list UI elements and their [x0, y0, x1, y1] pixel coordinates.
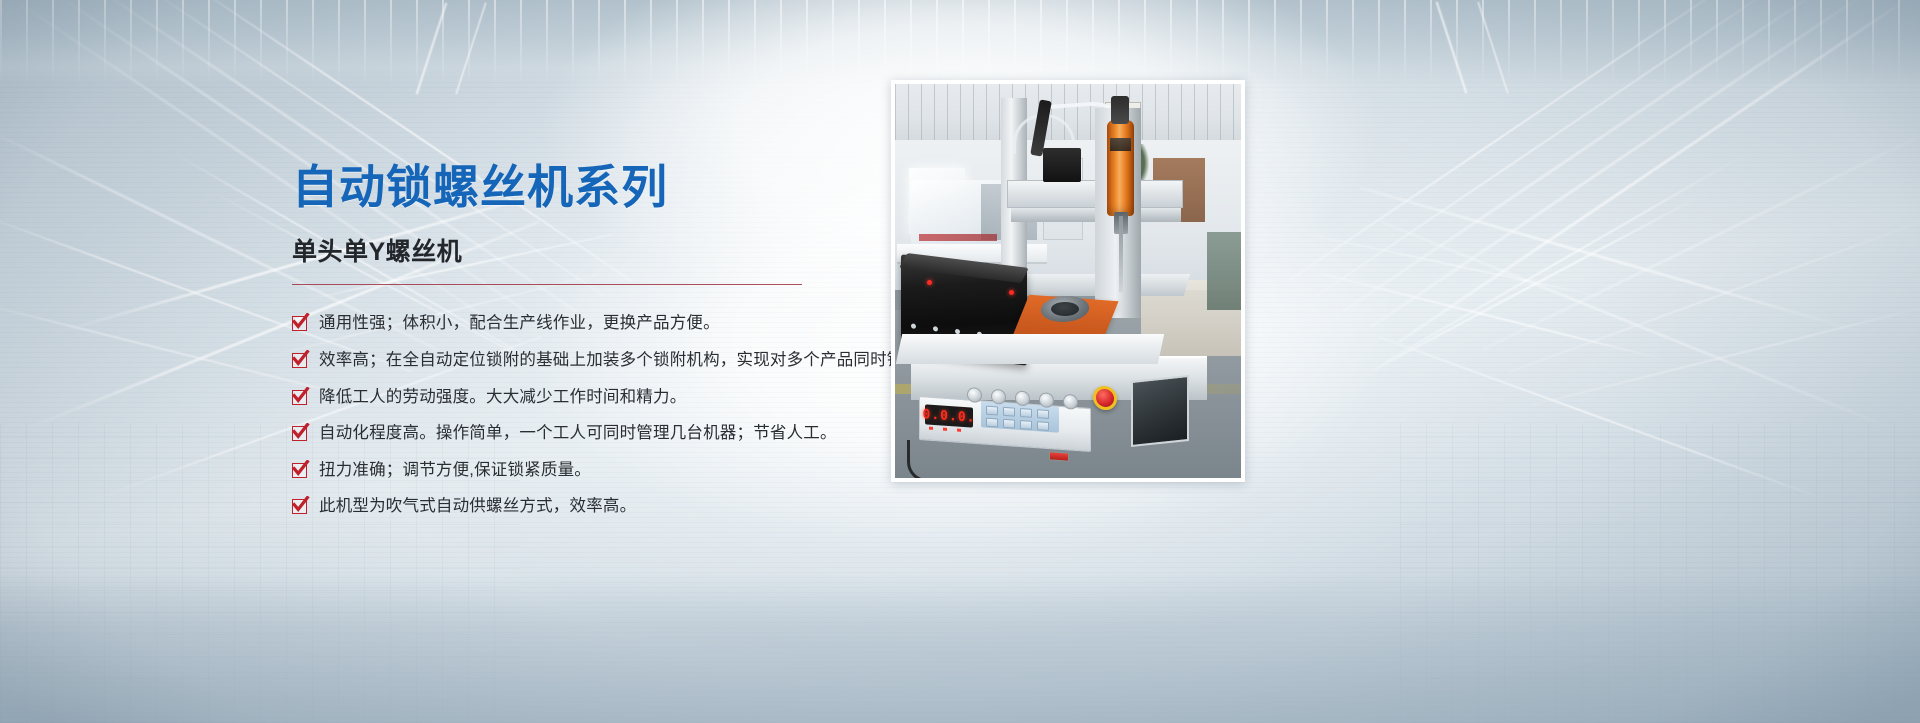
photo-ceiling-slat: [973, 84, 974, 146]
machine-panel-button-2[interactable]: [991, 389, 1006, 405]
check-icon: [292, 316, 307, 331]
machine-feeder-screw: [933, 326, 938, 332]
machine-panel-button-3[interactable]: [1015, 390, 1030, 406]
photo-ceiling-slat: [1142, 84, 1143, 146]
machine-keypad-key-6[interactable]: [1003, 419, 1015, 429]
machine-feeder-screw: [911, 323, 916, 329]
photo-ceiling-slat: [1233, 84, 1234, 146]
product-subtitle: 单头单Y螺丝机: [292, 232, 872, 268]
machine-keypad-key-5[interactable]: [986, 418, 998, 428]
check-icon: [292, 353, 307, 368]
feature-list: 通用性强；体积小，配合生产线作业，更换产品方便。效率高；在全自动定位锁附的基础上…: [292, 313, 872, 517]
machine-panel-button-4[interactable]: [1039, 392, 1054, 408]
machine-workpiece-center: [1051, 302, 1079, 316]
feature-item: 通用性强；体积小，配合生产线作业，更换产品方便。: [292, 313, 872, 334]
machine-electric-screwdriver: [1107, 120, 1134, 216]
feature-text: 此机型为吹气式自动供螺丝方式，效率高。: [319, 496, 636, 517]
feature-text: 扭力准确；调节方便,保证锁紧质量。: [319, 460, 591, 481]
product-photo-frame: 0.0.0.: [891, 80, 1245, 482]
feature-item: 降低工人的劳动强度。大大减少工作时间和精力。: [292, 387, 872, 408]
photo-ceiling-slat: [999, 84, 1000, 146]
machine-screw-bit: [1119, 216, 1123, 292]
feature-item: 此机型为吹气式自动供螺丝方式，效率高。: [292, 496, 872, 517]
photo-ceiling-slat: [934, 84, 935, 146]
page-title: 自动锁螺丝机系列: [292, 160, 872, 214]
machine-base-plate: [896, 334, 1164, 364]
photo-ceiling-slat: [1220, 84, 1221, 146]
banner-content: 自动锁螺丝机系列 单头单Y螺丝机 通用性强；体积小，配合生产线作业，更换产品方便…: [0, 0, 1920, 723]
machine-keypad-key-8[interactable]: [1037, 421, 1049, 431]
check-icon: [292, 426, 307, 441]
machine-cable: [907, 440, 947, 482]
machine-digital-display: 0.0.0.: [925, 404, 973, 427]
machine-screwdriver-label: [1110, 138, 1131, 151]
photo-ceiling-slat: [1207, 84, 1208, 146]
machine-display-led: [943, 428, 947, 431]
machine-display-led: [929, 427, 933, 430]
photo-ceiling-slat: [895, 84, 896, 146]
photo-ceiling-slat: [947, 84, 948, 146]
feature-item: 效率高；在全自动定位锁附的基础上加装多个锁附机构，实现对多个产品同时锁附。: [292, 350, 872, 371]
product-banner: 自动锁螺丝机系列 单头单Y螺丝机 通用性强；体积小，配合生产线作业，更换产品方便…: [0, 0, 1920, 723]
feature-item: 自动化程度高。操作简单，一个工人可同时管理几台机器；节省人工。: [292, 423, 872, 444]
feature-text: 自动化程度高。操作简单，一个工人可同时管理几台机器；节省人工。: [319, 423, 837, 444]
photo-ceiling-slat: [908, 84, 909, 146]
photo-ceiling-slat: [1194, 84, 1195, 146]
text-column: 自动锁螺丝机系列 单头单Y螺丝机 通用性强；体积小，配合生产线作业，更换产品方便…: [292, 160, 872, 517]
machine-feeder-led-1: [927, 280, 932, 285]
feature-text: 降低工人的劳动强度。大大减少工作时间和精力。: [319, 387, 686, 408]
feature-item: 扭力准确；调节方便,保证锁紧质量。: [292, 460, 872, 481]
automatic-screw-locking-machine-photo: 0.0.0.: [895, 84, 1241, 478]
machine-feeder-led-2: [1009, 290, 1014, 295]
title-divider: [292, 284, 802, 285]
check-icon: [292, 390, 307, 405]
photo-ceiling-slat: [986, 84, 987, 146]
feature-text: 通用性强；体积小，配合生产线作业，更换产品方便。: [319, 313, 720, 334]
photo-ceiling-slat: [1168, 84, 1169, 146]
photo-ceiling-slat: [1155, 84, 1156, 146]
photo-ceiling-slat: [960, 84, 961, 146]
photo-bin: [1207, 232, 1245, 310]
machine-power-switch[interactable]: [1049, 451, 1069, 461]
machine-keypad-key-7[interactable]: [1020, 420, 1032, 430]
machine-panel-button-1[interactable]: [967, 387, 982, 403]
photo-red-strip: [919, 234, 997, 241]
machine-panel-button-5[interactable]: [1063, 394, 1078, 410]
feature-text: 效率高；在全自动定位锁附的基础上加装多个锁附机构，实现对多个产品同时锁附。: [319, 350, 937, 371]
machine-screwdriver-cap: [1111, 96, 1129, 124]
check-icon: [292, 499, 307, 514]
check-icon: [292, 463, 307, 478]
machine-black-box: [1043, 148, 1081, 182]
machine-touch-screen[interactable]: [1131, 375, 1189, 447]
photo-ceiling-slat: [921, 84, 922, 146]
machine-display-led: [957, 429, 961, 432]
photo-ceiling-slat: [1181, 84, 1182, 146]
